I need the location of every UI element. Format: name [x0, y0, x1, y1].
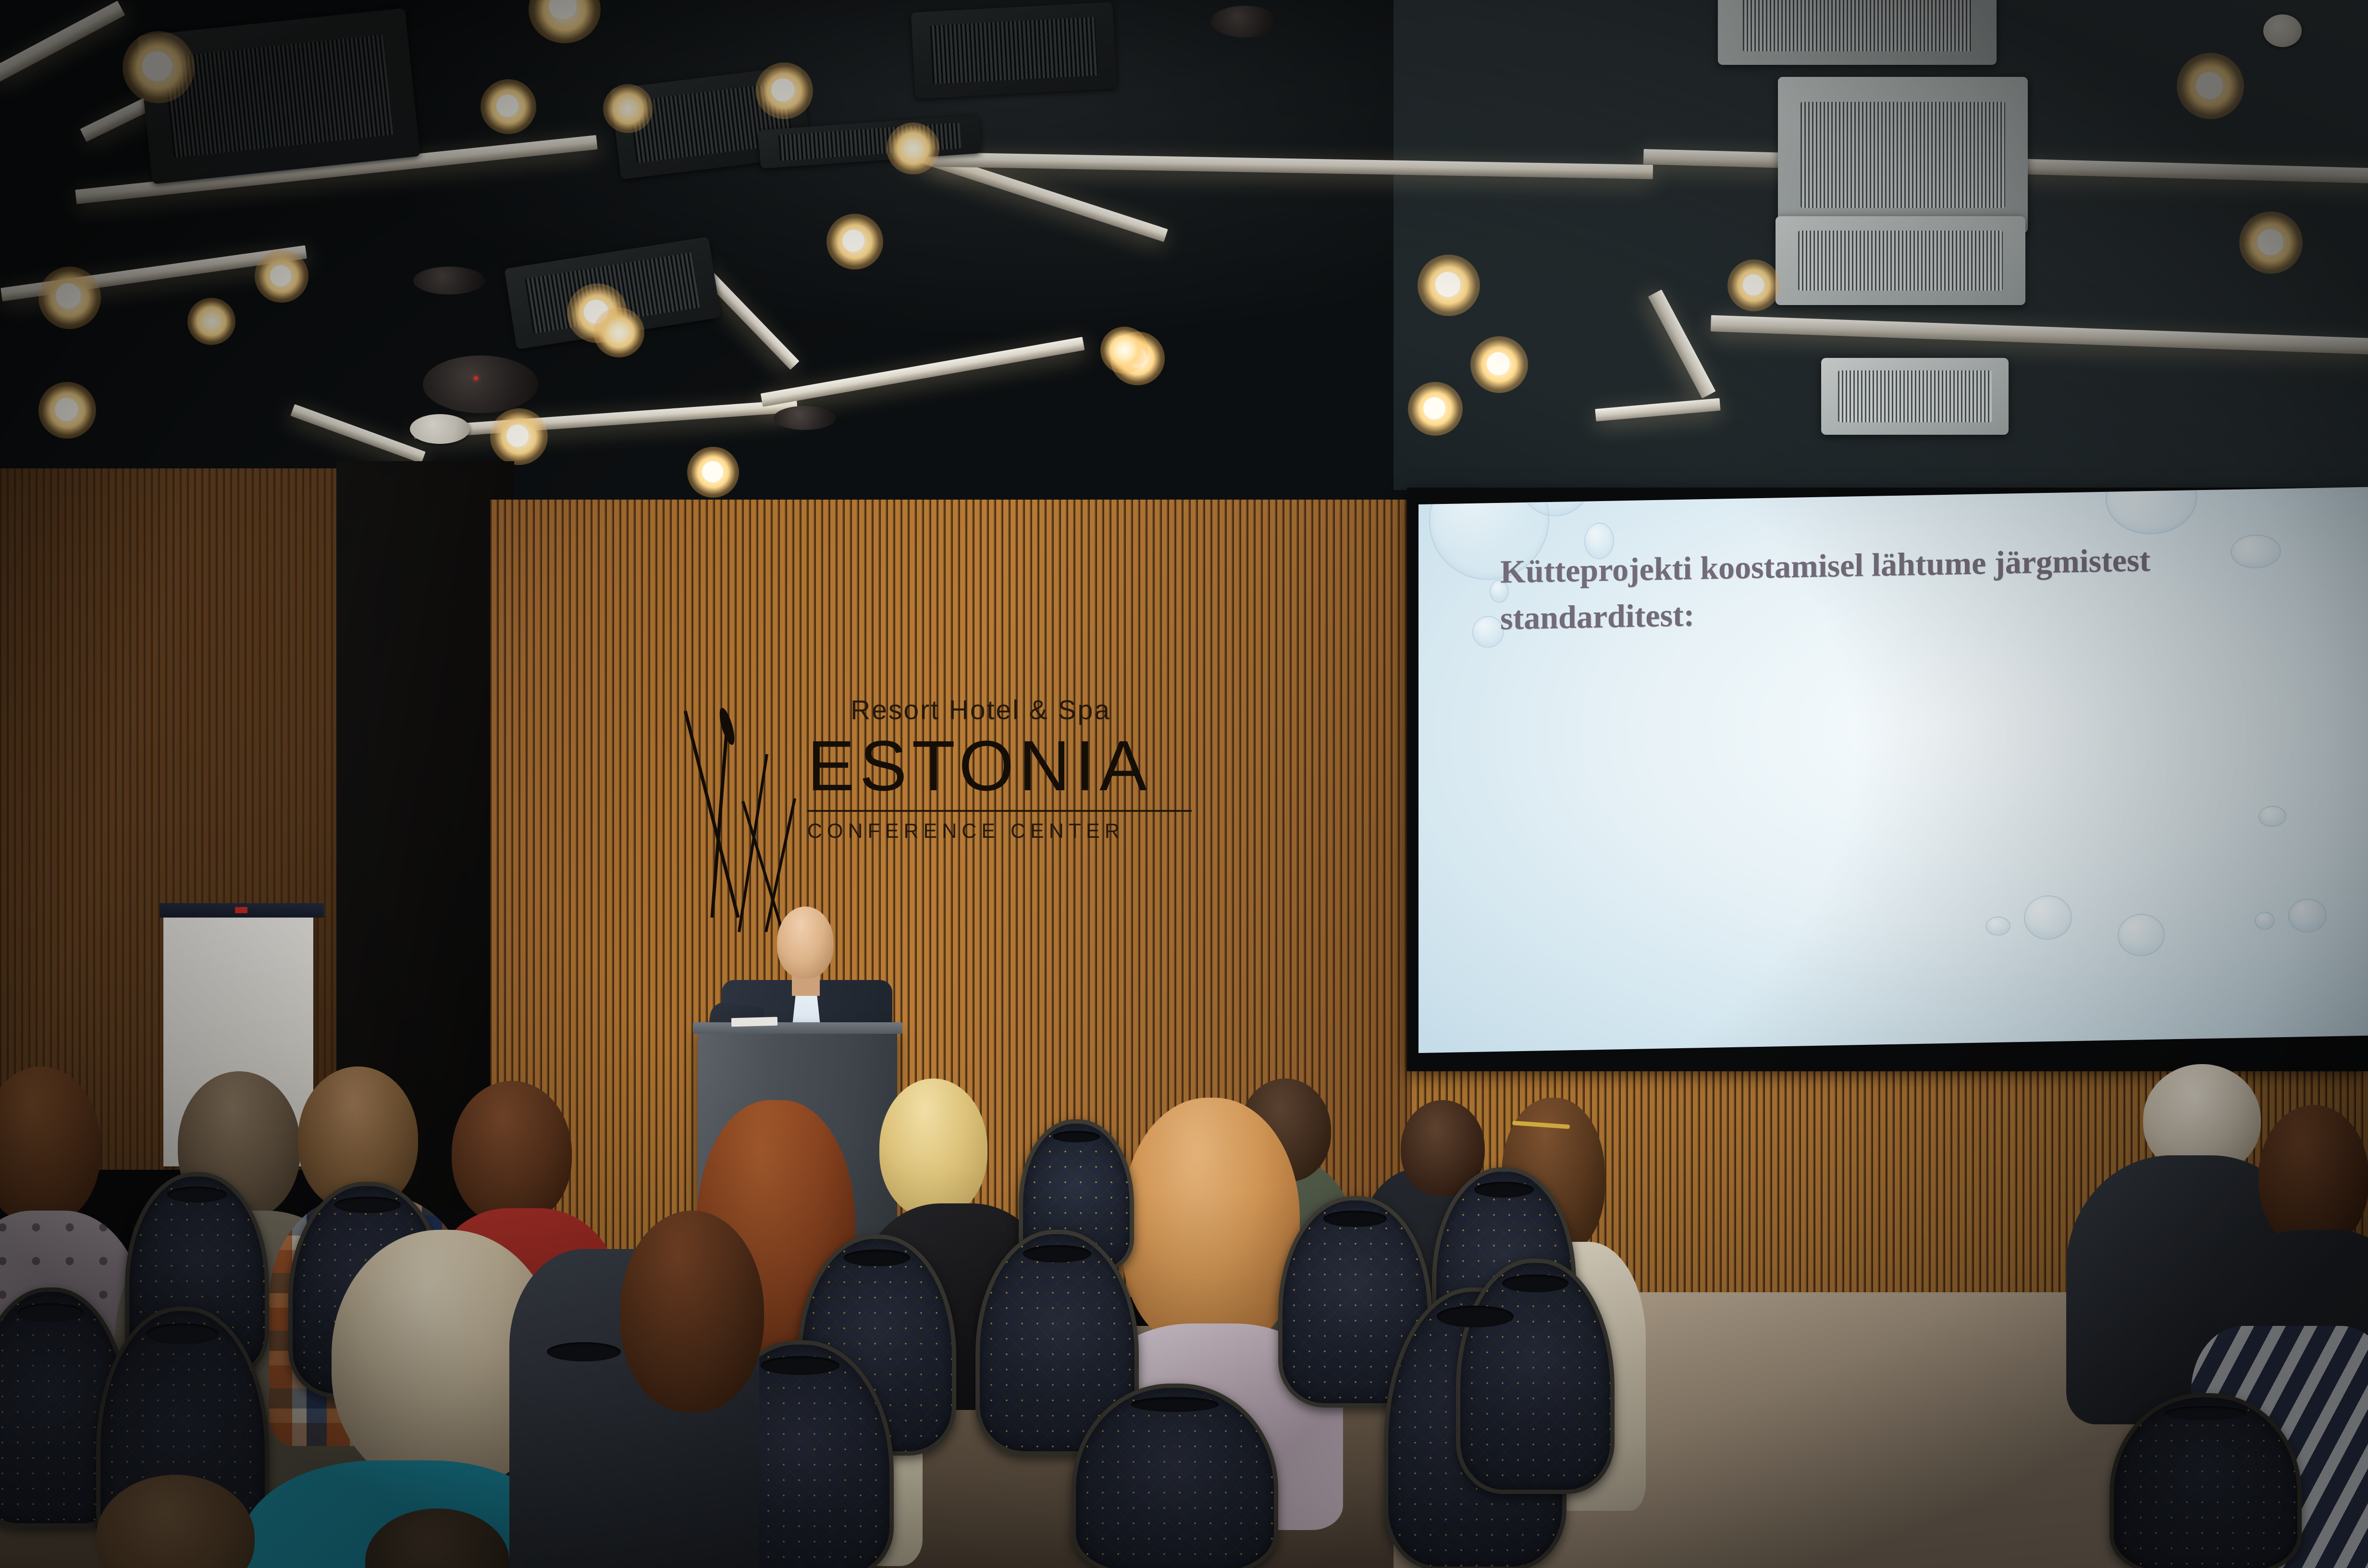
- person-head: [879, 1078, 987, 1218]
- ceiling-dome-icon: [1211, 6, 1278, 37]
- venue-logo-divider: [807, 810, 1192, 812]
- lectern-top: [693, 1022, 902, 1034]
- ceiling-spotlight: [1423, 397, 1445, 419]
- person-head: [1122, 1098, 1300, 1347]
- ceiling-spotlight: [593, 307, 644, 357]
- ceiling-spotlight: [1743, 274, 1764, 295]
- smoke-detector-icon: [423, 355, 538, 413]
- ceiling-spotlight: [603, 84, 653, 133]
- ceiling-spotlight: [842, 230, 864, 252]
- lectern-notes: [731, 1017, 777, 1027]
- flipchart-header-bar: [160, 903, 324, 918]
- person-head: [452, 1081, 572, 1225]
- venue-logo-subtitle: Resort Hotel & Spa: [851, 694, 1307, 726]
- smoke-detector-icon: [410, 414, 470, 444]
- hvac-vent: [1821, 358, 2009, 435]
- slide-bubble-decor: [1986, 916, 2010, 936]
- person-head: [620, 1211, 764, 1412]
- projection-screen[interactable]: Kütteprojekti koostamisel lähtume järgmi…: [1418, 487, 2368, 1053]
- ceiling-spotlight: [56, 283, 81, 308]
- flipchart-brand-logo: [235, 907, 247, 913]
- slide-bubble-decor: [2118, 914, 2165, 957]
- ceiling-spotlight: [2257, 229, 2283, 255]
- reed-decoration-icon: [681, 692, 806, 937]
- ceiling-spotlight: [142, 51, 172, 81]
- banquet-chair[interactable]: [1072, 1384, 1278, 1568]
- person-head: [2258, 1105, 2368, 1249]
- ceiling-spotlight: [1100, 327, 1148, 374]
- ceiling-spotlight: [1487, 352, 1510, 375]
- ceiling-spotlight: [702, 461, 723, 482]
- ceiling-spotlight: [55, 398, 78, 421]
- ceiling-dome-icon: [413, 267, 485, 294]
- slide-bubble-decor: [2288, 898, 2327, 932]
- conference-room-scene: Resort Hotel & Spa ESTONIA CONFERENCE CE…: [0, 0, 2368, 1568]
- hvac-vent: [1776, 216, 2025, 305]
- slide-bubble-decor: [2258, 806, 2286, 827]
- ceiling-spotlight: [2196, 72, 2223, 99]
- ceiling-spotlight: [187, 298, 235, 345]
- slide-bubble-decor: [1472, 616, 1504, 648]
- ceiling-spotlight: [771, 78, 794, 101]
- banquet-chair[interactable]: [1456, 1259, 1615, 1494]
- banquet-chair[interactable]: [2109, 1393, 2302, 1568]
- hvac-vent: [1778, 77, 2028, 233]
- venue-logo-tagline: CONFERENCE CENTER: [807, 820, 1307, 843]
- hvac-vent: [1718, 0, 1997, 65]
- ceiling-spotlight: [270, 265, 291, 286]
- ceiling-spotlight: [887, 122, 939, 174]
- slide-body-text: Kütteprojekti koostamisel lähtume järgmi…: [1500, 534, 2288, 641]
- slide-bubble-decor: [2024, 895, 2072, 940]
- hvac-vent: [911, 2, 1117, 99]
- venue-logo: Resort Hotel & Spa ESTONIA CONFERENCE CE…: [807, 694, 1307, 843]
- ceiling-spotlight: [496, 95, 518, 117]
- smoke-detector-icon: [2263, 14, 2302, 47]
- ceiling-spotlight: [1435, 272, 1460, 297]
- speaker-head: [777, 906, 834, 979]
- slide-bubble-decor: [2106, 487, 2197, 535]
- venue-logo-name: ESTONIA: [807, 729, 1307, 803]
- ceiling-spotlight: [506, 425, 529, 447]
- slide-bubble-decor: [2255, 911, 2275, 930]
- ceiling-dome-icon: [774, 406, 836, 430]
